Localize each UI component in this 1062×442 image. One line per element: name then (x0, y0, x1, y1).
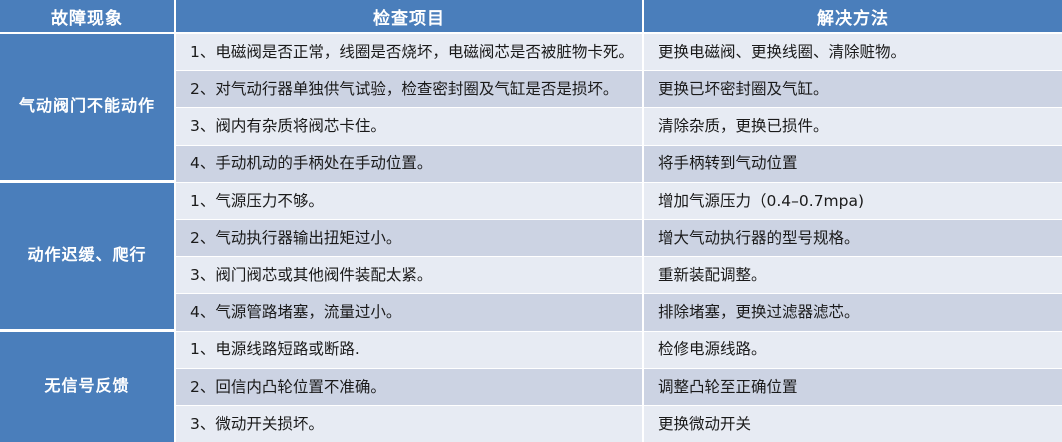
solution-cell: 将手柄转到气动位置 (644, 146, 1062, 183)
solution-cell: 清除杂质，更换已损件。 (644, 108, 1062, 145)
table-row: 动作迟缓、爬行 1、气源压力不够。 增加气源压力（0.4–0.7mpa) (0, 183, 1062, 220)
check-item-text: 1、电磁阀是否正常，线圈是否烧坏，电磁阀芯是否被脏物卡死。 (190, 41, 634, 63)
solution-cell: 排除堵塞，更换过滤器滤芯。 (644, 294, 1062, 331)
check-item-cell: 1、电磁阀是否正常，线圈是否烧坏，电磁阀芯是否被脏物卡死。 (176, 34, 644, 71)
check-item-text: 1、气源压力不够。 (190, 190, 634, 212)
symptom-group-cell-1: 气动阀门不能动作 (0, 34, 176, 183)
solution-cell: 重新装配调整。 (644, 257, 1062, 294)
column-header-symptom: 故障现象 (0, 0, 176, 34)
solution-cell: 调整凸轮至正确位置 (644, 369, 1062, 406)
check-item-text: 2、对气动行器单独供气试验，检查密封圈及气缸是否是损坏。 (190, 78, 634, 100)
column-header-check-item: 检查项目 (176, 0, 644, 34)
check-item-text: 3、微动开关损坏。 (190, 413, 634, 435)
check-item-cell: 2、气动执行器输出扭矩过小。 (176, 220, 644, 257)
header-row: 故障现象 检查项目 解决方法 (0, 0, 1062, 34)
solution-cell: 更换已坏密封圈及气缸。 (644, 71, 1062, 108)
check-item-text: 1、电源线路短路或断路. (190, 338, 634, 360)
table-body: 气动阀门不能动作 1、电磁阀是否正常，线圈是否烧坏，电磁阀芯是否被脏物卡死。 更… (0, 34, 1062, 442)
check-item-text: 3、阀门阀芯或其他阀件装配太紧。 (190, 264, 634, 286)
table-row: 气动阀门不能动作 1、电磁阀是否正常，线圈是否烧坏，电磁阀芯是否被脏物卡死。 更… (0, 34, 1062, 71)
solution-cell: 检修电源线路。 (644, 332, 1062, 369)
check-item-text: 2、回信内凸轮位置不准确。 (190, 376, 634, 398)
symptom-group-cell-3: 无信号反馈 (0, 332, 176, 442)
check-item-cell: 2、对气动行器单独供气试验，检查密封圈及气缸是否是损坏。 (176, 71, 644, 108)
table-header: 故障现象 检查项目 解决方法 (0, 0, 1062, 34)
solution-cell: 增大气动执行器的型号规格。 (644, 220, 1062, 257)
check-item-cell: 1、电源线路短路或断路. (176, 332, 644, 369)
check-item-cell: 3、阀门阀芯或其他阀件装配太紧。 (176, 257, 644, 294)
fault-troubleshooting-table: 故障现象 检查项目 解决方法 气动阀门不能动作 1、电磁阀是否正常，线圈是否烧坏… (0, 0, 1062, 442)
solution-cell: 更换电磁阀、更换线圈、清除赃物。 (644, 34, 1062, 71)
check-item-text: 2、气动执行器输出扭矩过小。 (190, 227, 634, 249)
check-item-cell: 4、气源管路堵塞，流量过小。 (176, 294, 644, 331)
check-item-text: 4、手动机动的手柄处在手动位置。 (190, 152, 634, 174)
check-item-cell: 3、微动开关损坏。 (176, 406, 644, 442)
check-item-cell: 1、气源压力不够。 (176, 183, 644, 220)
check-item-cell: 2、回信内凸轮位置不准确。 (176, 369, 644, 406)
solution-cell: 更换微动开关 (644, 406, 1062, 442)
check-item-text: 4、气源管路堵塞，流量过小。 (190, 301, 634, 323)
table-row: 无信号反馈 1、电源线路短路或断路. 检修电源线路。 (0, 332, 1062, 369)
column-header-solution: 解决方法 (644, 0, 1062, 34)
check-item-cell: 4、手动机动的手柄处在手动位置。 (176, 146, 644, 183)
check-item-text: 3、阀内有杂质将阀芯卡住。 (190, 115, 634, 137)
check-item-cell: 3、阀内有杂质将阀芯卡住。 (176, 108, 644, 145)
solution-cell: 增加气源压力（0.4–0.7mpa) (644, 183, 1062, 220)
symptom-group-cell-2: 动作迟缓、爬行 (0, 183, 176, 332)
